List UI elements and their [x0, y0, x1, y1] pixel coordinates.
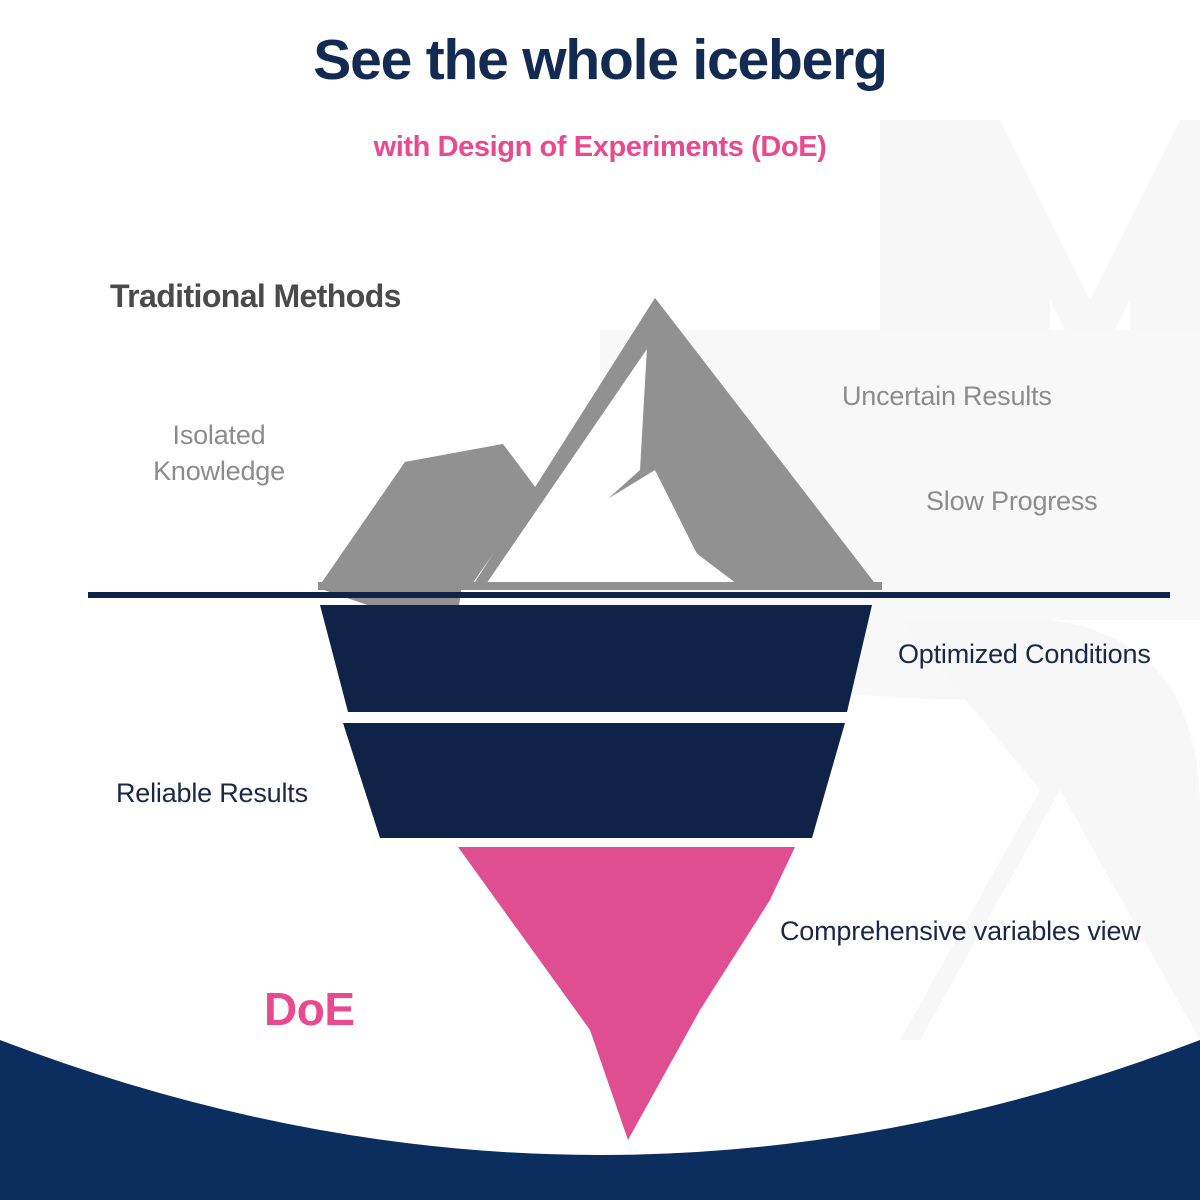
segment-reliable-results: [343, 723, 845, 838]
waterline: [88, 592, 1170, 598]
label-isolated-knowledge: Isolated Knowledge: [104, 418, 334, 489]
traditional-methods-heading: Traditional Methods: [110, 278, 401, 315]
doe-heading: DoE: [264, 982, 355, 1036]
label-comprehensive-variables-view: Comprehensive variables view: [780, 914, 1180, 950]
label-uncertain-results: Uncertain Results: [842, 379, 1052, 415]
label-reliable-results: Reliable Results: [116, 776, 308, 812]
infographic-canvas: See the whole iceberg with Design of Exp…: [0, 0, 1200, 1200]
page-subtitle: with Design of Experiments (DoE): [0, 131, 1200, 164]
artwork-layer: [0, 0, 1200, 1200]
label-slow-progress: Slow Progress: [926, 484, 1097, 520]
segment-comprehensive-variables: [458, 847, 795, 1140]
page-title: See the whole iceberg: [0, 27, 1200, 93]
label-optimized-conditions: Optimized Conditions: [898, 637, 1158, 673]
bottom-navy-curve: [0, 1040, 1200, 1200]
segment-optimized-conditions: [320, 605, 872, 712]
